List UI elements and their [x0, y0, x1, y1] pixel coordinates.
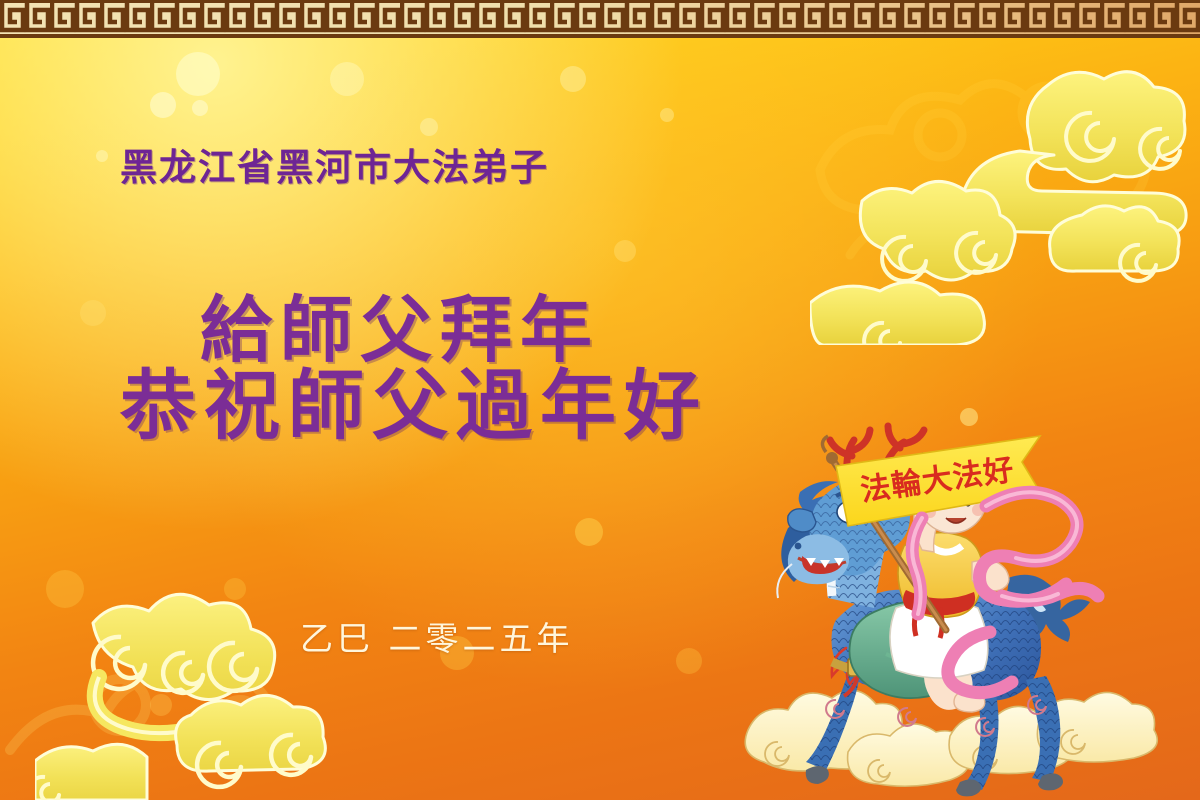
child-riding-qilin-illustration: 法輪大法好	[740, 400, 1160, 800]
greek-key-pattern	[0, 0, 1200, 34]
greeting-card: 黑龙江省黑河市大法弟子 給師父拜年 恭祝師父過年好 乙巳 二零二五年	[0, 0, 1200, 800]
bokeh-dot	[192, 100, 208, 116]
bokeh-dot	[80, 300, 106, 326]
bokeh-dot	[330, 62, 364, 96]
bokeh-dot	[176, 52, 220, 96]
bokeh-dot	[614, 240, 636, 262]
bokeh-dot	[420, 118, 438, 136]
greeting-title-line-2: 恭祝師父過年好	[120, 344, 708, 454]
bokeh-dot	[676, 648, 702, 674]
bokeh-dot	[575, 518, 603, 546]
bokeh-dot	[660, 108, 674, 122]
top-meander-border	[0, 0, 1200, 38]
bokeh-dot	[150, 92, 176, 118]
region-practitioner-line: 黑龙江省黑河市大法弟子	[120, 137, 549, 191]
bokeh-dot	[96, 150, 108, 162]
auspicious-cloud-top-right	[810, 55, 1200, 345]
auspicious-cloud-bottom-left	[35, 565, 365, 800]
bokeh-dot	[560, 66, 586, 92]
